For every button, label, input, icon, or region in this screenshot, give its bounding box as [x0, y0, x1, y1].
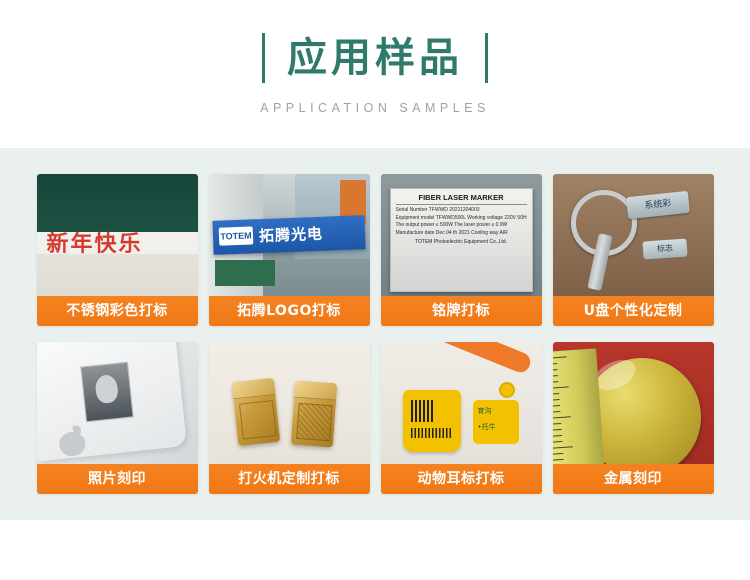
nameplate-line: Equipment model TFWWD500L Working voltag… [396, 215, 527, 223]
nameplate-footer: TOTEM Photoelectric Equipment Co.,Ltd. [396, 239, 527, 245]
sample-caption: 铭牌打标 [381, 296, 542, 326]
samples-grid: 新年快乐 不锈钢彩色打标 TOTEM 拓腾光电 [28, 174, 722, 494]
ear-tag-large [403, 390, 461, 452]
nameplate-line: The output power ≤ 500W The laser power … [396, 222, 527, 230]
sample-card[interactable]: 育沟 •托牛 动物耳标打标 [381, 342, 542, 494]
samples-section: 新年快乐 不锈钢彩色打标 TOTEM 拓腾光电 [0, 148, 750, 520]
sample-card[interactable]: FIBER LASER MARKER Serial Number TFWWD 2… [381, 174, 542, 326]
nameplate-line: Manufacture date Dec 04 th 2021 Cooling … [396, 230, 527, 238]
sample-card[interactable]: 系统彩 标志 U盘个性化定制 [553, 174, 714, 326]
page-subtitle: APPLICATION SAMPLES [260, 101, 490, 115]
page-footer-spacer [0, 520, 750, 580]
sample-caption: 金属刻印 [553, 464, 714, 494]
sample-caption: 打火机定制打标 [209, 464, 370, 494]
sample-caption: 照片刻印 [37, 464, 198, 494]
ear-tag-pin [499, 382, 515, 398]
ear-tag-text-line2: •托牛 [478, 422, 496, 432]
sample-caption: U盘个性化定制 [553, 296, 714, 326]
photo-text-new-year: 新年快乐 [47, 226, 143, 258]
sample-card[interactable]: 新年快乐 不锈钢彩色打标 [37, 174, 198, 326]
application-samples-page: 应用样品 APPLICATION SAMPLES 新年快乐 不锈钢彩色打标 [0, 0, 750, 580]
photo-text-totem-cn: 拓腾光电 [258, 223, 323, 246]
apple-logo-icon [57, 425, 86, 458]
engraved-portrait [80, 362, 134, 423]
ear-tag-text-line1: 育沟 [478, 406, 492, 416]
sample-card[interactable]: 金属刻印 [553, 342, 714, 494]
sample-card[interactable]: 打火机定制打标 [209, 342, 370, 494]
usb-tag-text: 系统彩 [626, 191, 690, 219]
usb-tag-secondary-text: 标志 [642, 238, 687, 259]
nameplate-header: FIBER LASER MARKER [396, 193, 527, 205]
qr-code-icon [411, 400, 433, 422]
title-row: 应用样品 [262, 33, 488, 83]
usb-tag: 系统彩 [626, 191, 690, 219]
title-divider-right [485, 33, 488, 83]
nameplate-line: Serial Number TFWWD 20211204003 [396, 207, 527, 215]
page-title: 应用样品 [287, 38, 463, 78]
sample-caption: 动物耳标打标 [381, 464, 542, 494]
totem-logo-icon: TOTEM [218, 226, 253, 245]
usb-tag-secondary: 标志 [642, 238, 687, 259]
sample-card[interactable]: 照片刻印 [37, 342, 198, 494]
page-header: 应用样品 APPLICATION SAMPLES [0, 0, 750, 148]
sample-caption: 不锈钢彩色打标 [37, 296, 198, 326]
sample-caption: 拓腾LOGO打标 [209, 296, 370, 326]
ear-tag-small: 育沟 •托牛 [473, 400, 519, 444]
sample-card[interactable]: TOTEM 拓腾光电 拓腾LOGO打标 [209, 174, 370, 326]
nameplate: FIBER LASER MARKER Serial Number TFWWD 2… [390, 188, 533, 292]
barcode-icon [411, 428, 453, 438]
title-divider-left [262, 33, 265, 83]
